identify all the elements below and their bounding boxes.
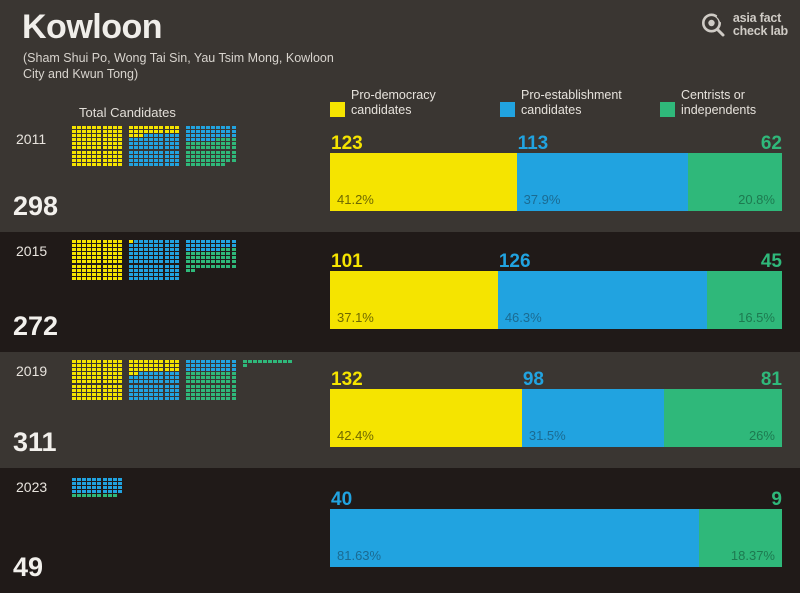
dot (226, 146, 230, 149)
dot (139, 389, 143, 392)
dot (129, 252, 133, 255)
dot (211, 240, 215, 243)
legend-item-centrists: Centrists orindependents (660, 88, 756, 117)
dot (196, 248, 200, 251)
dot (87, 486, 91, 489)
dot (211, 151, 215, 154)
dot-block (129, 360, 179, 400)
dot (97, 482, 101, 485)
dot (144, 244, 148, 247)
dot (149, 134, 153, 137)
dot (103, 130, 107, 133)
dot (139, 130, 143, 133)
dot (144, 163, 148, 166)
dot (206, 159, 210, 162)
dot (186, 130, 190, 133)
dot (170, 265, 174, 268)
dot (232, 134, 236, 137)
dot (103, 482, 107, 485)
dot (97, 490, 101, 493)
year-label-2015: 2015 (16, 243, 47, 259)
dot (129, 244, 133, 247)
dot (72, 269, 76, 272)
dot (108, 155, 112, 158)
dot (149, 260, 153, 263)
dot (108, 138, 112, 141)
dot (103, 380, 107, 383)
dot (97, 380, 101, 383)
dot (211, 368, 215, 371)
dot (170, 397, 174, 400)
dot (191, 146, 195, 149)
dot (216, 159, 220, 162)
dot (97, 244, 101, 247)
dot (165, 126, 169, 129)
dot (103, 269, 107, 272)
dot (191, 163, 195, 166)
dot (77, 277, 81, 280)
dot (129, 240, 133, 243)
dot (196, 368, 200, 371)
year-label-2019: 2019 (16, 363, 47, 379)
dot (144, 134, 148, 137)
dot (87, 273, 91, 276)
dot (226, 130, 230, 133)
dot (72, 244, 76, 247)
dot (118, 252, 122, 255)
dot (221, 244, 225, 247)
dot (139, 159, 143, 162)
dot (77, 240, 81, 243)
dot (165, 364, 169, 367)
dot (165, 138, 169, 141)
dot (191, 372, 195, 375)
dot (118, 478, 122, 481)
dot (108, 380, 112, 383)
dot (87, 360, 91, 363)
dot (134, 360, 138, 363)
dot (226, 380, 230, 383)
dot (97, 368, 101, 371)
dot (196, 372, 200, 375)
dot (72, 138, 76, 141)
dot (165, 155, 169, 158)
dot (201, 380, 205, 383)
dot (108, 163, 112, 166)
dot (221, 364, 225, 367)
year-row-2023: 20234940981.63%18.37% (0, 468, 800, 593)
dot (232, 393, 236, 396)
dot (165, 397, 169, 400)
dot (165, 151, 169, 154)
dot (216, 260, 220, 263)
dot (97, 134, 101, 137)
dot (191, 397, 195, 400)
dot (97, 397, 101, 400)
dot (175, 265, 179, 268)
dot (221, 142, 225, 145)
dot (129, 151, 133, 154)
total-candidates-2015: 272 (13, 311, 58, 342)
dot (211, 385, 215, 388)
dot (82, 368, 86, 371)
dot (97, 159, 101, 162)
dot (113, 494, 117, 497)
bar-chart-2023: 40981.63%18.37% (330, 488, 782, 567)
dot (144, 256, 148, 259)
dot (82, 273, 86, 276)
dot (139, 146, 143, 149)
dot (77, 163, 81, 166)
dot (144, 269, 148, 272)
dot (77, 397, 81, 400)
dot (159, 385, 163, 388)
dot (77, 389, 81, 392)
dot (170, 380, 174, 383)
bar-value-2015-green: 45 (761, 252, 782, 271)
dot (92, 380, 96, 383)
dot (77, 130, 81, 133)
dot (108, 364, 112, 367)
dot (87, 155, 91, 158)
dot (113, 265, 117, 268)
dot (216, 380, 220, 383)
dot (118, 151, 122, 154)
legend-swatch-pro-establishment (500, 102, 515, 117)
dot (144, 126, 148, 129)
dot (108, 244, 112, 247)
dot (232, 155, 236, 158)
dot (186, 163, 190, 166)
dot (129, 385, 133, 388)
dot (108, 142, 112, 145)
dot (72, 494, 76, 497)
dot (149, 142, 153, 145)
dot (216, 248, 220, 251)
header: Kowloon (Sham Shui Po, Wong Tai Sin, Yau… (0, 0, 800, 120)
dot (129, 277, 133, 280)
dot (159, 134, 163, 137)
dot (82, 393, 86, 396)
bar-value-2015-yellow: 101 (331, 252, 363, 271)
bar-percent-2011-blue: 37.9% (524, 193, 561, 207)
dot (97, 494, 101, 497)
dot (191, 364, 195, 367)
dot (92, 389, 96, 392)
dot (129, 273, 133, 276)
dot (134, 376, 138, 379)
dot (221, 360, 225, 363)
dot (87, 368, 91, 371)
dot (97, 277, 101, 280)
dot (87, 380, 91, 383)
dot-block (72, 478, 122, 497)
dot (186, 126, 190, 129)
dot (113, 126, 117, 129)
year-row-2011: 20112981231136241.2%37.9%20.8% (0, 120, 800, 232)
dot (129, 256, 133, 259)
dot (82, 142, 86, 145)
brand-name: asia fact check lab (733, 12, 788, 38)
dot (72, 389, 76, 392)
dot (97, 269, 101, 272)
dot (129, 376, 133, 379)
dot (87, 494, 91, 497)
dot (191, 385, 195, 388)
dot (175, 142, 179, 145)
dot (175, 380, 179, 383)
dot (144, 155, 148, 158)
dot (72, 155, 76, 158)
dot (211, 256, 215, 259)
dot (191, 389, 195, 392)
dot (226, 256, 230, 259)
dot (211, 372, 215, 375)
dot (243, 360, 247, 363)
dot (92, 376, 96, 379)
dot (97, 389, 101, 392)
dot (201, 372, 205, 375)
dot (221, 146, 225, 149)
dot (118, 397, 122, 400)
dot (103, 151, 107, 154)
dot (165, 142, 169, 145)
dot (221, 368, 225, 371)
dot (191, 256, 195, 259)
dot (175, 368, 179, 371)
dot (248, 360, 252, 363)
dot (92, 240, 96, 243)
dot (77, 478, 81, 481)
dot (232, 159, 236, 162)
dot (268, 360, 272, 363)
dot (201, 265, 205, 268)
dot (232, 126, 236, 129)
dot (175, 134, 179, 137)
dot (154, 248, 158, 251)
dot (170, 163, 174, 166)
dot (149, 126, 153, 129)
dot (149, 256, 153, 259)
dot (87, 248, 91, 251)
dot (232, 385, 236, 388)
dot (175, 360, 179, 363)
dot (87, 163, 91, 166)
dot (108, 360, 112, 363)
dot (159, 368, 163, 371)
bar-percent-2011-green: 20.8% (738, 193, 775, 207)
dot (103, 138, 107, 141)
dot (129, 159, 133, 162)
dot (154, 134, 158, 137)
legend-item-pro-democracy: Pro-democracycandidates (330, 88, 436, 117)
dot (154, 360, 158, 363)
dot (108, 130, 112, 133)
dot (139, 134, 143, 137)
dot (211, 126, 215, 129)
dot (226, 372, 230, 375)
dot (186, 393, 190, 396)
dot (191, 260, 195, 263)
dot (216, 364, 220, 367)
dot (103, 142, 107, 145)
dot (196, 360, 200, 363)
dot (149, 372, 153, 375)
dot (92, 269, 96, 272)
dot (77, 385, 81, 388)
dot (77, 159, 81, 162)
dot (87, 490, 91, 493)
dot-block (72, 240, 122, 280)
dot (216, 126, 220, 129)
dot (92, 163, 96, 166)
dot (170, 134, 174, 137)
dot (118, 389, 122, 392)
dot (129, 260, 133, 263)
dot (103, 389, 107, 392)
dot (201, 138, 205, 141)
dot (170, 269, 174, 272)
dot (77, 244, 81, 247)
dot (196, 385, 200, 388)
dot (196, 142, 200, 145)
dot (103, 248, 107, 251)
dot (82, 385, 86, 388)
dot (108, 478, 112, 481)
dot (108, 372, 112, 375)
dot (186, 265, 190, 268)
dot (221, 130, 225, 133)
bar-value-labels-2015: 10112645 (330, 250, 782, 271)
dot (216, 368, 220, 371)
dot (92, 486, 96, 489)
dot (206, 252, 210, 255)
dot (226, 240, 230, 243)
dot (154, 372, 158, 375)
dot (87, 269, 91, 272)
dot (72, 240, 76, 243)
dot (72, 360, 76, 363)
dot (165, 163, 169, 166)
dot (149, 252, 153, 255)
dot (170, 360, 174, 363)
dot (92, 260, 96, 263)
dot (221, 138, 225, 141)
dot (159, 248, 163, 251)
dot (175, 151, 179, 154)
dot (186, 260, 190, 263)
dot (165, 146, 169, 149)
dot (139, 244, 143, 247)
dot (82, 126, 86, 129)
dot (72, 385, 76, 388)
dot (87, 265, 91, 268)
dot (201, 159, 205, 162)
dot (211, 380, 215, 383)
dot (77, 138, 81, 141)
dot (87, 277, 91, 280)
dot (226, 397, 230, 400)
dot (201, 252, 205, 255)
dot (77, 364, 81, 367)
total-candidates-label: Total Candidates (79, 105, 176, 120)
dot (144, 393, 148, 396)
brand-line-1: asia fact (733, 11, 781, 25)
dot (226, 252, 230, 255)
dot (159, 138, 163, 141)
dot (201, 393, 205, 396)
dot (165, 260, 169, 263)
dot (87, 364, 91, 367)
dot (144, 252, 148, 255)
dot (196, 240, 200, 243)
dot (134, 364, 138, 367)
dot (211, 393, 215, 396)
dot (108, 240, 112, 243)
dot (77, 126, 81, 129)
dot (77, 376, 81, 379)
dot (206, 151, 210, 154)
dot (211, 360, 215, 363)
dot (175, 159, 179, 162)
dot (103, 385, 107, 388)
dot (103, 393, 107, 396)
dot (175, 130, 179, 133)
dot (216, 138, 220, 141)
dot (206, 393, 210, 396)
dot (72, 273, 76, 276)
dot (144, 360, 148, 363)
dot (118, 163, 122, 166)
dot (149, 385, 153, 388)
dot (191, 138, 195, 141)
dot (97, 385, 101, 388)
dot (144, 265, 148, 268)
dot (108, 397, 112, 400)
dot (103, 159, 107, 162)
dot (221, 134, 225, 137)
dot (87, 389, 91, 392)
dot (103, 265, 107, 268)
dot (72, 368, 76, 371)
dot (82, 163, 86, 166)
dot (170, 142, 174, 145)
dot (149, 248, 153, 251)
dot (144, 380, 148, 383)
dot (113, 360, 117, 363)
dot (175, 277, 179, 280)
dot (206, 260, 210, 263)
dot (92, 134, 96, 137)
dot (149, 376, 153, 379)
dot (170, 159, 174, 162)
dot (97, 486, 101, 489)
dot (206, 244, 210, 247)
dot (139, 372, 143, 375)
dot (92, 138, 96, 141)
dot (134, 265, 138, 268)
dot (216, 155, 220, 158)
dot (206, 389, 210, 392)
dot (134, 385, 138, 388)
dot (113, 159, 117, 162)
dot (196, 138, 200, 141)
dot (206, 155, 210, 158)
dot (82, 130, 86, 133)
dot (77, 393, 81, 396)
legend: Pro-democracycandidatesPro-establishment… (330, 88, 790, 120)
dot (154, 244, 158, 247)
